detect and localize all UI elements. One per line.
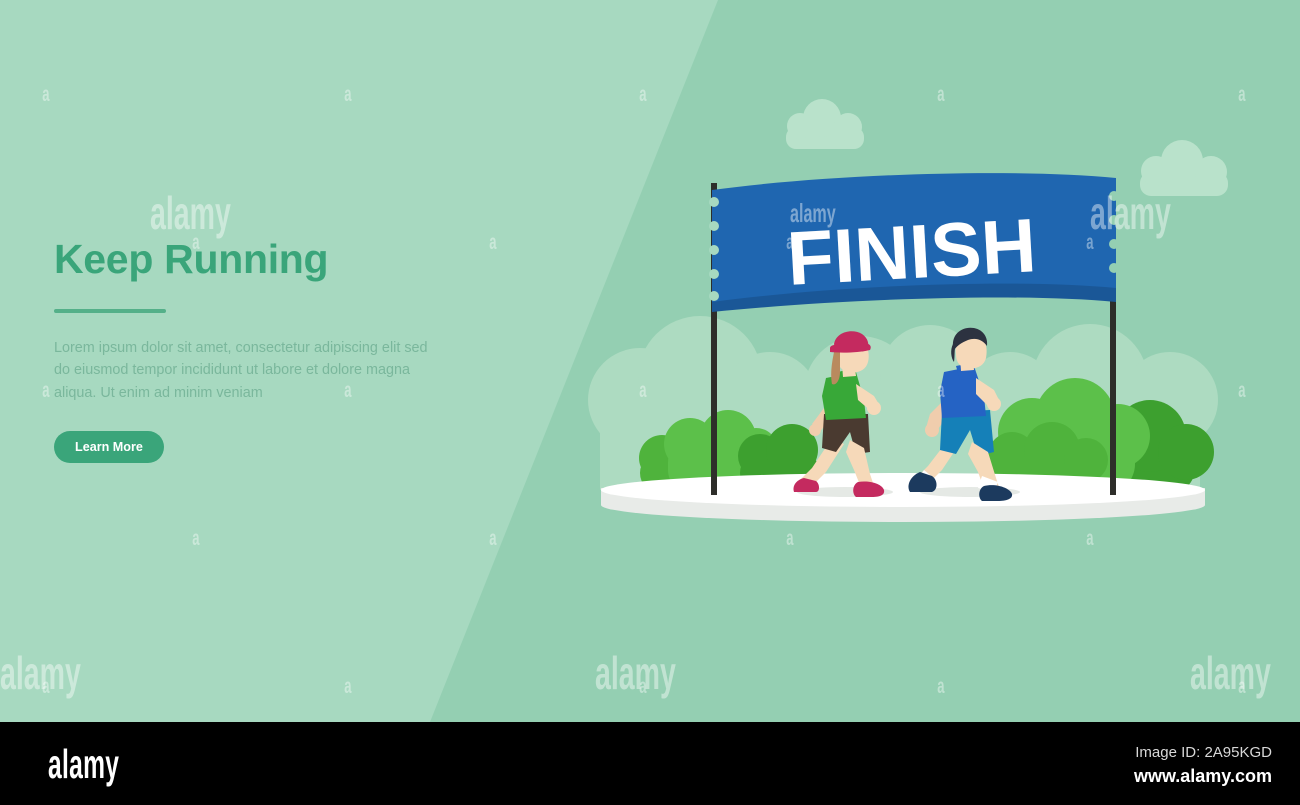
- image-id-label: Image ID: 2A95KGD: [1012, 744, 1272, 761]
- body-paragraph: Lorem ipsum dolor sit amet, consectetur …: [54, 337, 440, 404]
- alamy-logo: alamy: [48, 744, 119, 785]
- alamy-url-label: www.alamy.com: [1012, 766, 1272, 787]
- banner-finish-text: FINISH: [785, 203, 1038, 302]
- hero-copy-block: Keep Running Lorem ipsum dolor sit amet,…: [54, 238, 484, 463]
- title-divider: [54, 309, 166, 313]
- illustration-canvas: FINISH: [0, 0, 1300, 722]
- screenshot-root: FINISH: [0, 0, 1300, 805]
- page-title: Keep Running: [54, 238, 484, 281]
- alamy-footer-bar: alamy Image ID: 2A95KGD www.alamy.com: [0, 722, 1300, 805]
- learn-more-button[interactable]: Learn More: [54, 431, 164, 463]
